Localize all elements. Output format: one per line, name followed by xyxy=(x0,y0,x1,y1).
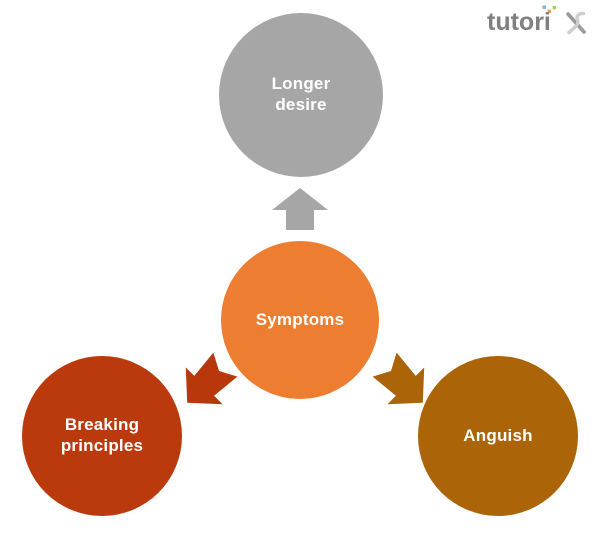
node-symptoms-label: Symptoms xyxy=(250,310,351,331)
arrow-down-left-icon xyxy=(176,352,238,414)
logo-wordmark: tutori xyxy=(487,8,551,36)
node-longer-desire[interactable]: Longer desire xyxy=(219,13,383,177)
node-longer-desire-label: Longer desire xyxy=(266,74,337,115)
arrow-up-icon xyxy=(270,186,330,230)
node-anguish[interactable]: Anguish xyxy=(418,356,578,516)
node-anguish-label: Anguish xyxy=(457,426,538,447)
logo-x-glyph xyxy=(568,13,584,32)
diagram-canvas: tutori Longer desire Symptoms xyxy=(0,0,600,536)
logo-dot-green xyxy=(553,6,556,9)
tutorix-logo: tutori xyxy=(484,2,592,38)
node-breaking-principles[interactable]: Breaking principles xyxy=(22,356,182,516)
node-symptoms[interactable]: Symptoms xyxy=(221,241,379,399)
node-breaking-principles-label: Breaking principles xyxy=(55,415,149,456)
